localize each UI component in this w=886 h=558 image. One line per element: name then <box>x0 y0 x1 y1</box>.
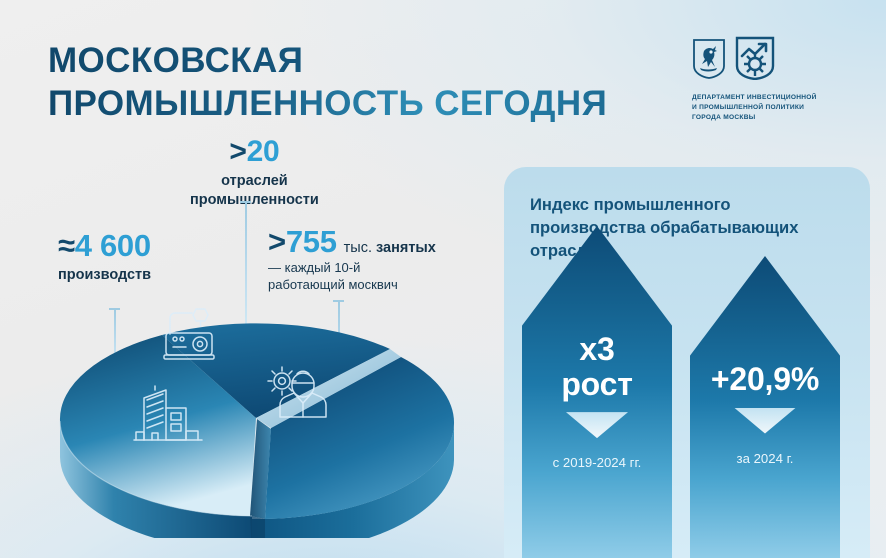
stat-employed-headline: >755тыс. занятых <box>268 226 436 257</box>
arrow-growth-content: x3 рост с 2019-2024 гг. <box>522 226 672 558</box>
title-line-2: ПРОМЫШЛЕННОСТЬ СЕГОДНЯ <box>48 83 607 126</box>
stat-employed-number: 755 <box>286 224 337 259</box>
stat-employed-unit-regular: тыс. <box>344 240 372 256</box>
stat-productions-value: ≈4 600 <box>58 230 151 261</box>
metric-arrow-percent[interactable]: +20,9% за 2024 г. <box>690 256 840 558</box>
logo-caption-line-3: ГОРОДА МОСКВЫ <box>692 113 838 123</box>
department-growth-gear-icon <box>735 36 775 85</box>
stat-employed: >755тыс. занятых — каждый 10-й работающи… <box>268 226 436 293</box>
stat-industries-label-2: промышленности <box>190 191 319 210</box>
triangle-divider-icon <box>734 408 796 434</box>
arrow-percent-value-1: +20,9% <box>711 362 819 397</box>
stat-industries-number: 20 <box>247 135 280 168</box>
stat-industries-prefix: > <box>229 135 246 168</box>
pie-chart-3d <box>52 288 462 538</box>
stat-industries: >20 отраслей промышленности <box>190 137 319 210</box>
stat-productions-label: производств <box>58 266 151 285</box>
stat-productions-number: 4 600 <box>75 228 151 263</box>
industrial-index-panel: Индекс промышленного производства обраба… <box>504 167 870 558</box>
metric-arrow-growth[interactable]: x3 рост с 2019-2024 гг. <box>522 226 672 558</box>
infographic-canvas: МОСКОВСКАЯ ПРОМЫШЛЕННОСТЬ СЕГОДНЯ <box>0 0 886 558</box>
logo-block: ДЕПАРТАМЕНТ ИНВЕСТИЦИОННОЙ И ПРОМЫШЛЕННО… <box>692 36 838 123</box>
arrow-growth-value-1: x3 <box>579 332 614 367</box>
stat-industries-value: >20 <box>190 137 319 167</box>
stat-employed-value: >755 <box>268 226 337 257</box>
stat-productions: ≈4 600 производств <box>58 230 151 285</box>
moscow-coat-of-arms-icon <box>692 38 726 85</box>
logo-caption: ДЕПАРТАМЕНТ ИНВЕСТИЦИОННОЙ И ПРОМЫШЛЕННО… <box>692 93 838 123</box>
arrow-growth-caption: с 2019-2024 гг. <box>553 455 642 470</box>
stat-employed-unit: тыс. занятых <box>344 241 436 256</box>
stat-employed-prefix: > <box>268 224 286 259</box>
logo-emblems <box>692 36 838 85</box>
stat-productions-prefix: ≈ <box>58 228 75 263</box>
stat-industries-label-1: отраслей <box>190 172 319 191</box>
pie-chart-svg <box>52 288 462 538</box>
triangle-divider-icon <box>566 412 628 438</box>
stat-employed-note-1: — каждый 10-й <box>268 259 436 276</box>
logo-caption-line-2: И ПРОМЫШЛЕННОЙ ПОЛИТИКИ <box>692 103 838 113</box>
logo-caption-line-1: ДЕПАРТАМЕНТ ИНВЕСТИЦИОННОЙ <box>692 93 838 103</box>
arrow-growth-value-2: рост <box>561 367 632 402</box>
arrow-percent-content: +20,9% за 2024 г. <box>690 256 840 558</box>
page-title: МОСКОВСКАЯ ПРОМЫШЛЕННОСТЬ СЕГОДНЯ <box>48 40 607 125</box>
arrow-percent-caption: за 2024 г. <box>737 451 794 466</box>
title-line-1: МОСКОВСКАЯ <box>48 40 607 83</box>
stat-employed-unit-bold: занятых <box>376 240 436 256</box>
